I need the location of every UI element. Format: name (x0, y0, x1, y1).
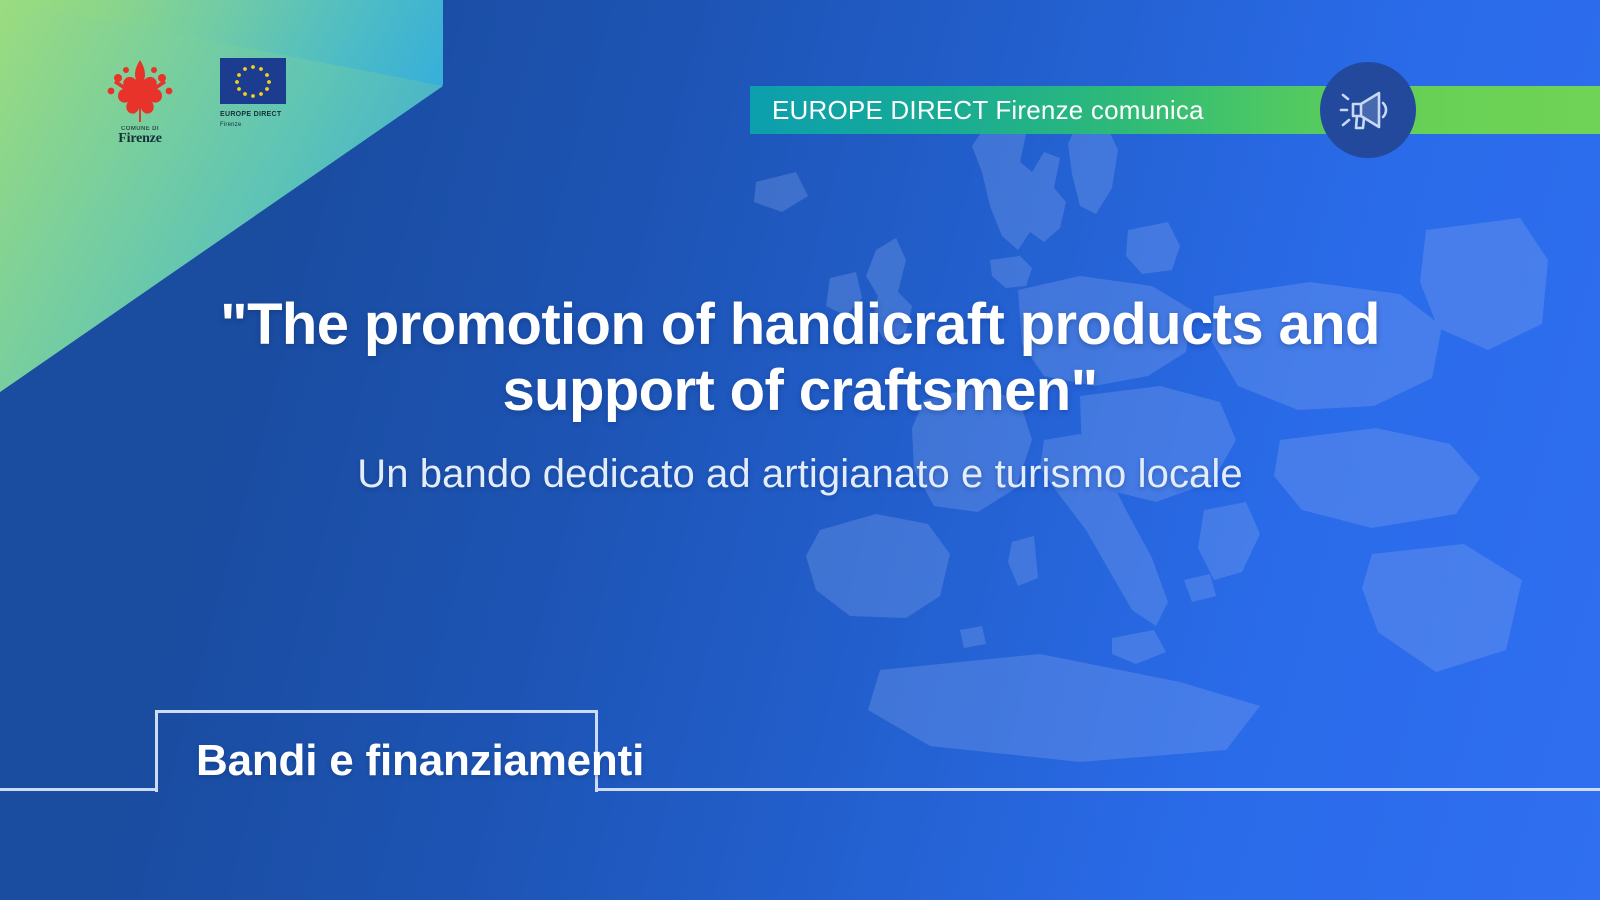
firenze-wordmark: COMUNE DI Firenze (98, 126, 182, 147)
europe-direct-wordmark-line2: Firenze (220, 122, 306, 129)
ribbon-label: EUROPE DIRECT Firenze comunica (750, 95, 1204, 126)
europe-direct-wordmark: EUROPE DIRECT Firenze (220, 111, 306, 129)
europe-direct-wordmark-line1: EUROPE DIRECT (220, 111, 306, 119)
comune-di-firenze-logo: COMUNE DI Firenze (98, 58, 182, 147)
firenze-wordmark-line2: Firenze (98, 132, 182, 147)
firenze-wordmark-line1: COMUNE DI (98, 126, 182, 132)
eu-flag-icon (220, 58, 286, 104)
megaphone-icon (1339, 81, 1397, 139)
page-subtitle: Un bando dedicato ad artigianato e turis… (120, 450, 1480, 499)
megaphone-badge (1320, 62, 1416, 158)
page-title: "The promotion of handicraft products an… (120, 292, 1480, 424)
europe-direct-logo: EUROPE DIRECT Firenze (220, 58, 306, 129)
category-frame: Bandi e finanziamenti (0, 700, 1600, 900)
logo-lockup: COMUNE DI Firenze (98, 58, 306, 147)
giglio-fleur-de-lis-icon (104, 58, 176, 124)
presentation-slide: COMUNE DI Firenze (0, 0, 1600, 900)
headline-block: "The promotion of handicraft products an… (0, 292, 1600, 499)
europe-direct-ribbon: EUROPE DIRECT Firenze comunica (750, 86, 1600, 134)
divider-rule-left (0, 788, 157, 791)
category-label: Bandi e finanziamenti (196, 732, 756, 789)
